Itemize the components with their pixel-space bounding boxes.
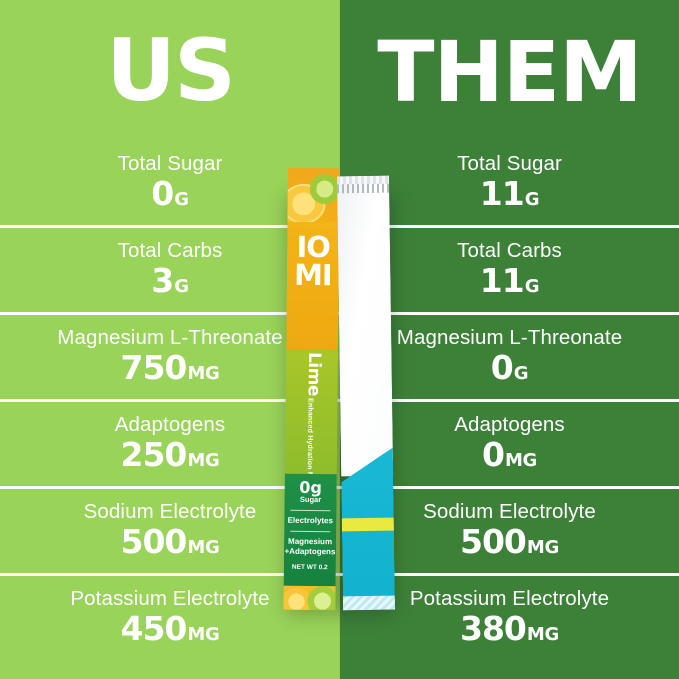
row-label: Sodium Electrolyte <box>423 501 596 524</box>
row-value-number: 0 <box>151 177 173 210</box>
row-label: Total Sugar <box>118 153 223 176</box>
row-value-number: 250 <box>121 438 187 471</box>
row-value: 380MG <box>460 612 559 645</box>
table-row: Potassium Electrolyte 380MG <box>340 573 679 660</box>
table-row: Magnesium L-Threonate 0G <box>340 312 679 399</box>
row-value-number: 450 <box>121 612 187 645</box>
row-value: 450MG <box>121 612 220 645</box>
row-value-unit: MG <box>187 365 219 383</box>
row-label: Magnesium L-Threonate <box>397 327 622 350</box>
row-value-number: 11 <box>480 177 524 210</box>
us-panel: US Total Sugar 0G Total Carbs 3G Magnesi… <box>0 0 340 679</box>
row-value-number: 0 <box>482 438 504 471</box>
row-label: Adaptogens <box>115 414 225 437</box>
row-value-unit: MG <box>187 539 219 557</box>
table-row: Potassium Electrolyte 450MG <box>0 573 340 660</box>
them-panel: THEM Total Sugar 11G Total Carbs 11G Mag… <box>340 0 679 679</box>
row-label: Total Sugar <box>457 153 562 176</box>
row-value: 3G <box>151 264 188 297</box>
row-value-number: 3 <box>151 264 173 297</box>
row-label: Sodium Electrolyte <box>84 501 257 524</box>
row-value-unit: MG <box>187 626 219 644</box>
panel-divider <box>339 0 340 679</box>
row-value-number: 500 <box>121 525 187 558</box>
row-value-number: 500 <box>460 525 526 558</box>
table-row: Sodium Electrolyte 500MG <box>340 486 679 573</box>
row-value-unit: G <box>525 191 539 209</box>
row-label: Potassium Electrolyte <box>70 588 269 611</box>
us-heading: US <box>0 28 340 114</box>
row-value: 750MG <box>121 351 220 384</box>
row-value-unit: MG <box>187 452 219 470</box>
row-value-unit: G <box>174 191 188 209</box>
row-value: 0G <box>151 177 188 210</box>
row-value: 0MG <box>482 438 537 471</box>
them-heading: THEM <box>340 30 679 114</box>
table-row: Total Sugar 0G <box>0 138 340 225</box>
table-row: Sodium Electrolyte 500MG <box>0 486 340 573</box>
row-label: Total Carbs <box>457 240 562 263</box>
row-value: 250MG <box>121 438 220 471</box>
row-value: 500MG <box>121 525 220 558</box>
row-value: 0G <box>491 351 528 384</box>
row-value: 11G <box>480 264 539 297</box>
row-value-unit: MG <box>527 539 559 557</box>
table-row: Adaptogens 0MG <box>340 399 679 486</box>
table-row: Total Sugar 11G <box>340 138 679 225</box>
row-value-unit: MG <box>527 626 559 644</box>
row-label: Magnesium L-Threonate <box>57 327 282 350</box>
us-rows: Total Sugar 0G Total Carbs 3G Magnesium … <box>0 138 340 660</box>
row-label: Total Carbs <box>118 240 223 263</box>
row-value-unit: G <box>525 278 539 296</box>
row-value-number: 750 <box>121 351 187 384</box>
row-value: 500MG <box>460 525 559 558</box>
comparison-graphic: US Total Sugar 0G Total Carbs 3G Magnesi… <box>0 0 679 679</box>
them-rows: Total Sugar 11G Total Carbs 11G Magnesiu… <box>340 138 679 660</box>
table-row: Total Carbs 11G <box>340 225 679 312</box>
table-row: Total Carbs 3G <box>0 225 340 312</box>
row-value-unit: MG <box>505 452 537 470</box>
row-value-unit: G <box>514 365 528 383</box>
row-value-unit: G <box>174 278 188 296</box>
table-row: Adaptogens 250MG <box>0 399 340 486</box>
row-value-number: 380 <box>460 612 526 645</box>
row-value: 11G <box>480 177 539 210</box>
row-label: Potassium Electrolyte <box>410 588 609 611</box>
row-value-number: 0 <box>491 351 513 384</box>
row-label: Adaptogens <box>454 414 564 437</box>
row-value-number: 11 <box>480 264 524 297</box>
table-row: Magnesium L-Threonate 750MG <box>0 312 340 399</box>
